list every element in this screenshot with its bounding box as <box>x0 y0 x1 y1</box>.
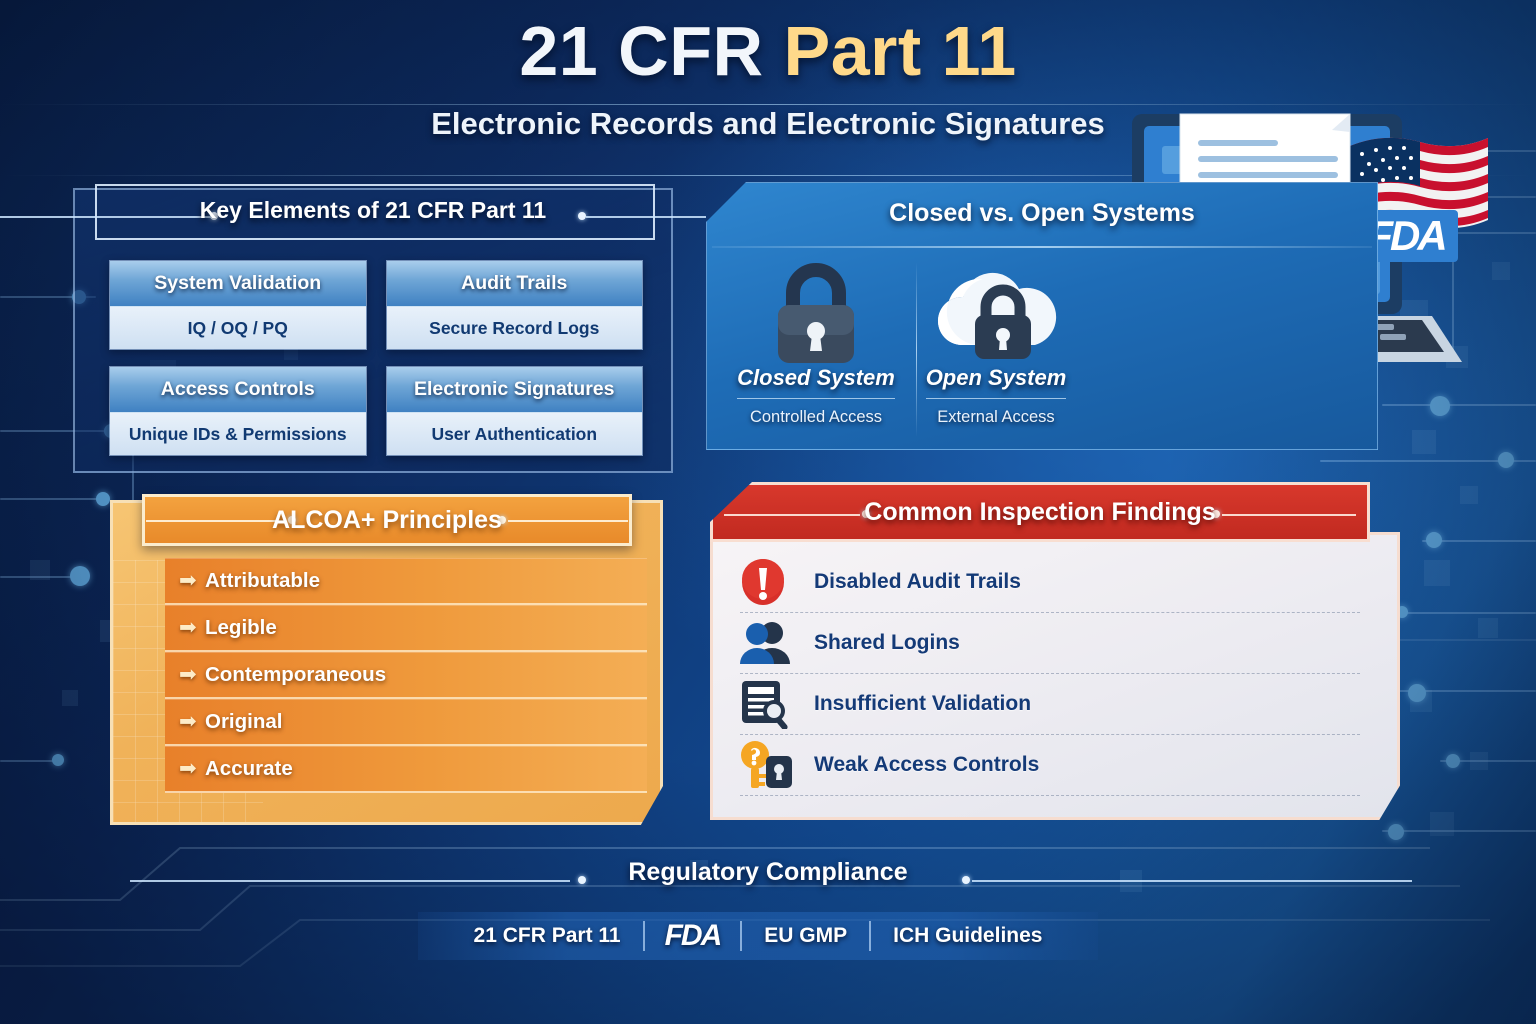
findings-list: Disabled Audit Trails Shared Logins <box>740 552 1360 796</box>
finding-list-item[interactable]: Insufficient Validation <box>740 674 1360 735</box>
alcoa-item-label: Contemporaneous <box>205 663 386 687</box>
alcoa-principle-list: ➡ Attributable ➡ Legible ➡ Contemporaneo… <box>165 558 647 793</box>
open-system-detail: External Access <box>906 408 1086 427</box>
alcoa-heading: ALCOA+ Principles <box>142 494 632 546</box>
cloud-lock-icon <box>906 250 1086 365</box>
key-element-detail: Unique IDs & Permissions <box>110 413 366 455</box>
alcoa-item-label: Legible <box>205 616 277 640</box>
title-accent: Part 11 <box>784 12 1017 90</box>
footer-heading: Regulatory Compliance <box>0 858 1536 887</box>
key-element-card[interactable]: Electronic Signatures User Authenticatio… <box>386 366 644 456</box>
alcoa-list-item[interactable]: ➡ Legible <box>165 605 647 652</box>
key-element-detail: IQ / OQ / PQ <box>110 307 366 349</box>
alcoa-list-item[interactable]: ➡ Attributable <box>165 558 647 605</box>
footer-lead-right <box>972 880 1412 882</box>
finding-list-item[interactable]: Shared Logins <box>740 613 1360 674</box>
finding-label: Weak Access Controls <box>814 753 1039 777</box>
finding-list-item[interactable]: Weak Access Controls <box>740 735 1360 796</box>
alcoa-list-item[interactable]: ➡ Accurate <box>165 746 647 793</box>
alcoa-item-label: Original <box>205 710 282 734</box>
key-element-title: Audit Trails <box>387 261 643 307</box>
closed-system-column[interactable]: Closed System Controlled Access <box>726 250 906 427</box>
fda-logo-text[interactable]: FDA <box>645 919 741 953</box>
arrow-bullet-icon: ➡ <box>179 711 205 732</box>
arrow-bullet-icon: ➡ <box>179 617 205 638</box>
finding-label: Insufficient Validation <box>814 692 1031 716</box>
finding-list-item[interactable]: Disabled Audit Trails <box>740 552 1360 613</box>
compliance-badge-ich[interactable]: ICH Guidelines <box>871 924 1064 948</box>
arrow-bullet-icon: ➡ <box>179 758 205 779</box>
closed-system-detail: Controlled Access <box>726 408 906 427</box>
systems-header-rule <box>712 246 1372 248</box>
alcoa-item-label: Attributable <box>205 569 320 593</box>
key-element-detail: Secure Record Logs <box>387 307 643 349</box>
key-element-title: Electronic Signatures <box>387 367 643 413</box>
footer-dot-left <box>578 876 586 884</box>
key-element-detail: User Authentication <box>387 413 643 455</box>
compliance-badge-cfr[interactable]: 21 CFR Part 11 <box>452 924 643 948</box>
arrow-bullet-icon: ➡ <box>179 570 205 591</box>
compliance-badge-eugmp[interactable]: EU GMP <box>742 924 869 948</box>
key-element-card[interactable]: System Validation IQ / OQ / PQ <box>109 260 367 350</box>
alcoa-list-item[interactable]: ➡ Contemporaneous <box>165 652 647 699</box>
key-element-card[interactable]: Access Controls Unique IDs & Permissions <box>109 366 367 456</box>
key-elements-heading: Key Elements of 21 CFR Part 11 <box>93 182 653 238</box>
key-elements-card-grid: System Validation IQ / OQ / PQ Audit Tra… <box>109 260 643 456</box>
open-system-column[interactable]: Open System External Access <box>906 250 1086 427</box>
arrow-bullet-icon: ➡ <box>179 664 205 685</box>
infographic-canvas: 21 CFR Part 11 Electronic Records and El… <box>0 0 1536 1024</box>
svg-text:FDA: FDA <box>1367 212 1445 259</box>
key-lock-icon <box>740 740 814 790</box>
closed-system-name: Closed System <box>737 365 895 399</box>
alcoa-item-label: Accurate <box>205 757 293 781</box>
compliance-badge-bar: 21 CFR Part 11 FDA EU GMP ICH Guidelines <box>418 912 1098 960</box>
title-primary: 21 CFR <box>519 12 763 90</box>
padlock-icon <box>726 250 906 365</box>
document-magnifier-icon <box>740 679 814 729</box>
systems-heading: Closed vs. Open Systems <box>706 182 1378 244</box>
findings-heading: Common Inspection Findings <box>710 482 1370 542</box>
footer-dot-right <box>962 876 970 884</box>
key-element-title: System Validation <box>110 261 366 307</box>
open-system-name: Open System <box>926 365 1067 399</box>
finding-label: Shared Logins <box>814 631 960 655</box>
two-users-icon <box>740 620 814 666</box>
finding-label: Disabled Audit Trails <box>814 570 1021 594</box>
alert-exclamation-icon <box>740 557 814 607</box>
key-element-card[interactable]: Audit Trails Secure Record Logs <box>386 260 644 350</box>
key-element-title: Access Controls <box>110 367 366 413</box>
footer-lead-left <box>130 880 570 882</box>
alcoa-list-item[interactable]: ➡ Original <box>165 699 647 746</box>
